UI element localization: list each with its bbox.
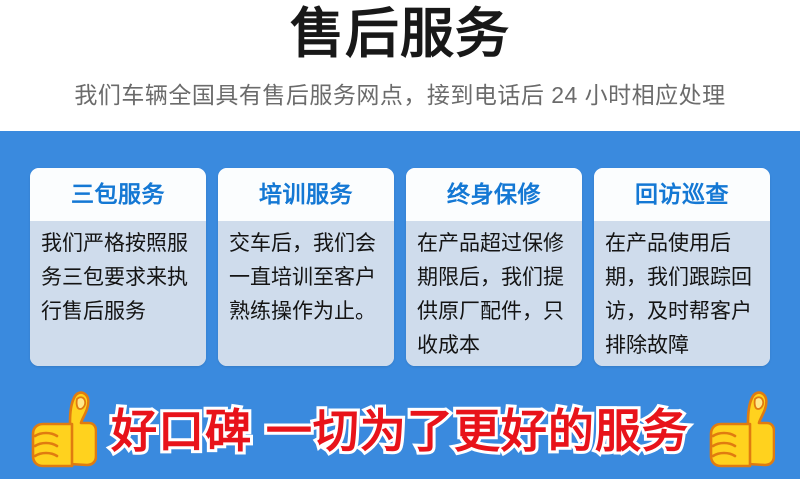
- service-card: 终身保修 在产品超过保修期限后，我们提供原厂配件，只收成本: [406, 168, 582, 366]
- service-card-header: 终身保修: [406, 168, 582, 221]
- header-section: 售后服务 我们车辆全国具有售后服务网点，接到电话后 24 小时相应处理: [0, 0, 800, 131]
- service-card-body: 我们严格按照服务三包要求来执行售后服务: [30, 221, 206, 366]
- service-card-title: 培训服务: [259, 181, 353, 208]
- service-card-body: 在产品超过保修期限后，我们提供原厂配件，只收成本: [406, 221, 582, 366]
- service-card-list: 三包服务 我们严格按照服务三包要求来执行售后服务 培训服务 交车后，我们会一直培…: [30, 168, 770, 366]
- service-card: 三包服务 我们严格按照服务三包要求来执行售后服务: [30, 168, 206, 366]
- service-card-text: 在产品使用后期，我们跟踪回访，及时帮客户排除故障: [605, 227, 761, 363]
- thumbs-up-icon: [703, 386, 775, 476]
- thumbs-up-icon: [25, 386, 97, 476]
- service-card-body: 交车后，我们会一直培训至客户熟练操作为止。: [218, 221, 394, 366]
- service-card-title: 终身保修: [447, 181, 541, 208]
- service-card-title: 回访巡查: [635, 181, 729, 208]
- service-card-text: 在产品超过保修期限后，我们提供原厂配件，只收成本: [417, 227, 573, 363]
- page-subtitle: 我们车辆全国具有售后服务网点，接到电话后 24 小时相应处理: [0, 78, 800, 112]
- slogan-text: 好口碑 一切为了更好的服务: [111, 401, 689, 461]
- service-card: 回访巡查 在产品使用后期，我们跟踪回访，及时帮客户排除故障: [594, 168, 770, 366]
- service-card-header: 回访巡查: [594, 168, 770, 221]
- service-card-title: 三包服务: [71, 181, 165, 208]
- service-card-body: 在产品使用后期，我们跟踪回访，及时帮客户排除故障: [594, 221, 770, 366]
- service-card-text: 交车后，我们会一直培训至客户熟练操作为止。: [229, 227, 385, 329]
- service-card-header: 三包服务: [30, 168, 206, 221]
- page-title: 售后服务: [0, 2, 800, 66]
- service-card-text: 我们严格按照服务三包要求来执行售后服务: [41, 227, 197, 329]
- blue-content-band: 三包服务 我们严格按照服务三包要求来执行售后服务 培训服务 交车后，我们会一直培…: [0, 131, 800, 479]
- service-card: 培训服务 交车后，我们会一直培训至客户熟练操作为止。: [218, 168, 394, 366]
- service-card-header: 培训服务: [218, 168, 394, 221]
- sales-after-service-banner: 售后服务 我们车辆全国具有售后服务网点，接到电话后 24 小时相应处理 三包服务…: [0, 0, 800, 479]
- slogan-banner: 好口碑 一切为了更好的服务: [0, 383, 800, 479]
